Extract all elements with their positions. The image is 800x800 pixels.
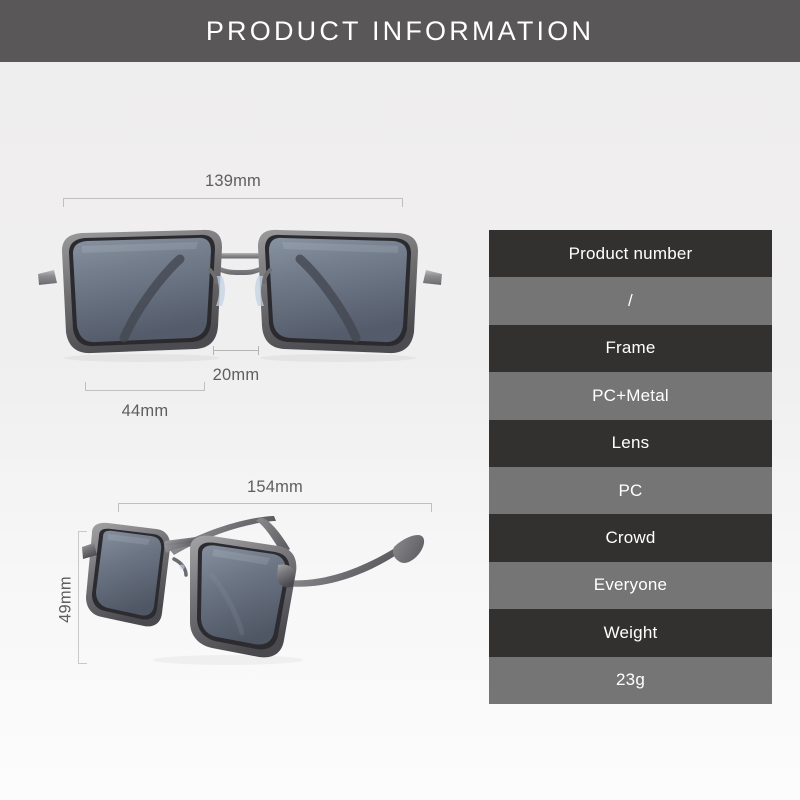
spec-cell-text: / bbox=[628, 291, 633, 311]
spec-row-weight-value: 23g bbox=[489, 657, 772, 704]
spec-row-weight-label: Weight bbox=[489, 609, 772, 656]
product-information-page: PRODUCT INFORMATION 139mm bbox=[0, 0, 800, 800]
spec-row-crowd-label: Crowd bbox=[489, 514, 772, 561]
measure-label-front-width: 139mm bbox=[63, 172, 403, 191]
measure-rule-bridge-width bbox=[213, 346, 259, 355]
measure-label-temple-length: 154mm bbox=[118, 478, 432, 497]
spec-table: Product number / Frame PC+Metal Lens PC … bbox=[489, 230, 772, 704]
measure-label-bridge-width: 20mm bbox=[199, 366, 273, 385]
spec-cell-text: Product number bbox=[569, 244, 693, 264]
spec-row-lens-label: Lens bbox=[489, 420, 772, 467]
spec-cell-text: Crowd bbox=[605, 528, 655, 548]
spec-row-frame-label: Frame bbox=[489, 325, 772, 372]
page-title: PRODUCT INFORMATION bbox=[206, 18, 594, 45]
spec-cell-text: Lens bbox=[612, 433, 650, 453]
spec-row-crowd-value: Everyone bbox=[489, 562, 772, 609]
spec-cell-text: Weight bbox=[604, 623, 658, 643]
spec-row-lens-value: PC bbox=[489, 467, 772, 514]
spec-cell-text: 23g bbox=[616, 670, 645, 690]
spec-cell-text: Frame bbox=[605, 338, 655, 358]
spec-row-frame-value: PC+Metal bbox=[489, 372, 772, 419]
spec-cell-text: PC+Metal bbox=[592, 386, 669, 406]
spec-row-product-number-label: Product number bbox=[489, 230, 772, 277]
spec-row-product-number-value: / bbox=[489, 277, 772, 324]
measure-label-lens-width: 44mm bbox=[85, 402, 205, 421]
spec-cell-text: PC bbox=[618, 481, 642, 501]
spec-cell-text: Everyone bbox=[594, 575, 667, 595]
sunglasses-angled-view-photo bbox=[78, 505, 448, 670]
measure-label-frame-height: 49mm bbox=[57, 550, 76, 650]
header-bar: PRODUCT INFORMATION bbox=[0, 0, 800, 62]
measure-bracket-front-width bbox=[63, 198, 403, 207]
measure-bracket-lens-width bbox=[85, 382, 205, 391]
